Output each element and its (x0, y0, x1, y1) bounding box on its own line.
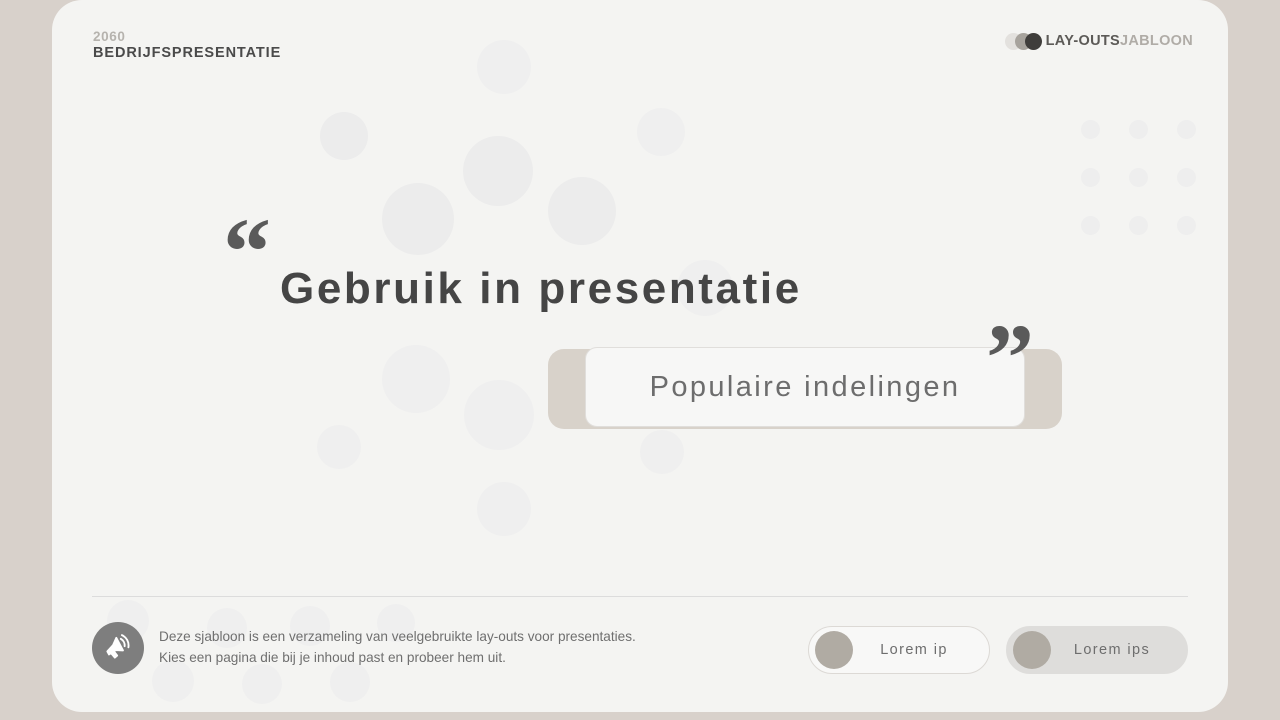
brand-circles-icon (1005, 32, 1045, 50)
button-dot-icon (1013, 631, 1051, 669)
grid-dot (1177, 120, 1196, 139)
grid-dot (1177, 216, 1196, 235)
grid-dot (1129, 120, 1148, 139)
header-title: BEDRIJFSPRESENTATIE (93, 45, 281, 62)
subtitle-panel: Populaire indelingen (585, 347, 1025, 427)
subtitle-frame: Populaire indelingen (548, 349, 1062, 429)
lorem-ips-button-label: Lorem ips (1051, 642, 1181, 658)
footer-line-2: Kies een pagina die bij je inhoud past e… (159, 648, 636, 669)
decor-bubble (477, 40, 531, 94)
brand-logo: LAY-OUTS JABLOON (1005, 31, 1193, 51)
lorem-ip-button[interactable]: Lorem ip (808, 626, 990, 674)
footer-note: Deze sjabloon is een verzameling van vee… (92, 622, 636, 674)
decor-bubble (382, 345, 450, 413)
decor-bubble (317, 425, 361, 469)
grid-dot (1081, 120, 1100, 139)
footer-line-1: Deze sjabloon is een verzameling van vee… (159, 627, 636, 648)
footer-button-group: Lorem ip Lorem ips (808, 626, 1188, 674)
decor-bubble (320, 112, 368, 160)
lorem-ip-button-label: Lorem ip (853, 642, 983, 658)
decor-bubble (477, 482, 531, 536)
brand-circle-dark (1025, 33, 1042, 50)
megaphone-icon (92, 622, 144, 674)
presentation-slide: 2060 BEDRIJFSPRESENTATIE LAY-OUTS JABLOO… (52, 0, 1228, 712)
grid-dot (1081, 168, 1100, 187)
grid-dot (1129, 216, 1148, 235)
decor-bubble (640, 430, 684, 474)
subtitle-text: Populaire indelingen (650, 371, 961, 404)
lorem-ips-button[interactable]: Lorem ips (1006, 626, 1188, 674)
grid-dot (1081, 216, 1100, 235)
page-title: Gebruik in presentatie (280, 264, 802, 314)
decor-bubble (463, 136, 533, 206)
footer-divider (92, 596, 1188, 597)
decor-bubble (637, 108, 685, 156)
footer-description: Deze sjabloon is een verzameling van vee… (159, 627, 636, 668)
slide-header: 2060 BEDRIJFSPRESENTATIE (93, 29, 281, 62)
brand-name-secondary: JABLOON (1120, 33, 1193, 49)
decor-bubble (548, 177, 616, 245)
header-year: 2060 (93, 29, 281, 45)
decor-bubble (382, 183, 454, 255)
quote-close-icon: ” (986, 310, 1034, 406)
decor-bubble (464, 380, 534, 450)
brand-name-primary: LAY-OUTS (1046, 33, 1120, 49)
quote-open-icon: “ (223, 204, 271, 300)
dot-grid-decoration (1066, 105, 1210, 249)
grid-dot (1177, 168, 1196, 187)
grid-dot (1129, 168, 1148, 187)
button-dot-icon (815, 631, 853, 669)
